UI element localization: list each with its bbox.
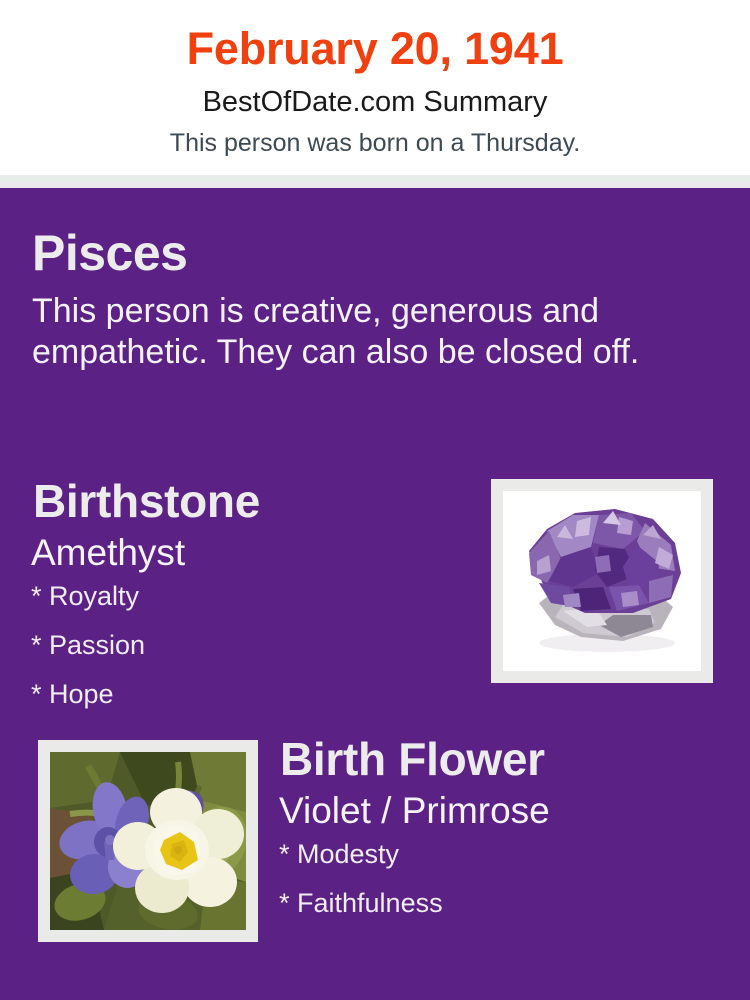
birth-flower-trait-list: * Modesty * Faithfulness <box>279 841 709 939</box>
birthday-summary-infographic: February 20, 1941 BestOfDate.com Summary… <box>0 0 750 1000</box>
list-item: * Faithfulness <box>279 890 709 917</box>
list-item: * Hope <box>31 681 451 708</box>
list-item: * Modesty <box>279 841 709 868</box>
birth-weekday-note: This person was born on a Thursday. <box>0 129 750 158</box>
birthstone-photo-frame <box>491 479 713 683</box>
birth-flower-heading: Birth Flower <box>280 736 545 782</box>
birth-flower-name: Violet / Primrose <box>279 792 550 829</box>
zodiac-description: This person is creative, generous and em… <box>32 291 708 374</box>
birthstone-name: Amethyst <box>31 534 185 571</box>
violet-primrose-flower-icon <box>50 752 246 930</box>
birthstone-heading: Birthstone <box>33 478 260 524</box>
list-item: * Royalty <box>31 583 451 610</box>
birthstone-trait-list: * Royalty * Passion * Hope <box>31 583 451 730</box>
header-divider-top <box>0 175 750 182</box>
list-item: * Passion <box>31 632 451 659</box>
header: February 20, 1941 BestOfDate.com Summary… <box>0 0 750 175</box>
zodiac-sign-heading: Pisces <box>32 228 187 278</box>
birthstone-photo <box>503 491 701 671</box>
amethyst-crystal-icon <box>503 491 701 671</box>
page-title: February 20, 1941 <box>0 23 750 75</box>
birth-flower-photo <box>50 752 246 930</box>
birth-flower-photo-frame <box>38 740 258 942</box>
site-summary-subtitle: BestOfDate.com Summary <box>0 86 750 119</box>
